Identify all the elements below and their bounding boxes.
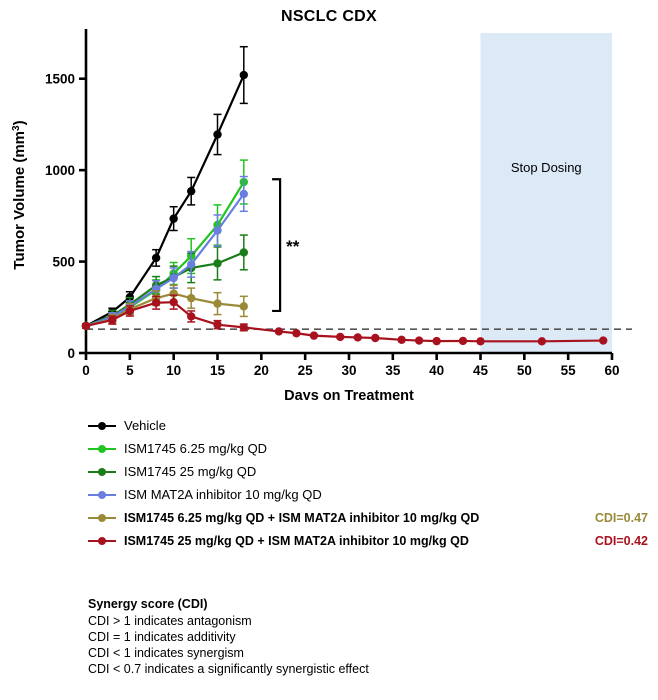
legend-item[interactable]: ISM MAT2A inhibitor 10 mg/kg QD: [88, 483, 648, 506]
data-point: [187, 294, 195, 302]
data-point: [213, 226, 221, 234]
legend-item[interactable]: ISM1745 25 mg/kg QD + ISM MAT2A inhibito…: [88, 529, 648, 552]
data-point: [432, 337, 440, 345]
x-axis-tick-label: 10: [166, 363, 181, 378]
legend-marker-icon: [88, 488, 116, 502]
x-axis-tick-label: 5: [126, 363, 134, 378]
stop-dosing-label: Stop Dosing: [511, 160, 582, 175]
x-axis-tick-label: 60: [604, 363, 619, 378]
figure-panel: NSCLC CDX Stop Dosing0500100015000510152…: [0, 0, 658, 700]
legend-marker-icon: [88, 465, 116, 479]
data-point: [213, 259, 221, 267]
data-point: [213, 320, 221, 328]
data-point: [354, 333, 362, 341]
data-point: [292, 329, 300, 337]
data-point: [213, 130, 221, 138]
y-axis-tick-label: 0: [67, 346, 75, 361]
synergy-score-footnote: Synergy score (CDI) CDI > 1 indicates an…: [88, 596, 369, 677]
x-axis-tick-label: 40: [429, 363, 444, 378]
series-line: [86, 75, 244, 326]
data-point: [336, 333, 344, 341]
footnote-title: Synergy score (CDI): [88, 596, 369, 612]
legend-cdi-value: CDI=0.42: [585, 534, 648, 548]
stop-dosing-band: [481, 33, 613, 353]
legend-item[interactable]: ISM1745 6.25 mg/kg QD + ISM MAT2A inhibi…: [88, 506, 648, 529]
series-3: [82, 177, 248, 331]
data-point: [459, 337, 467, 345]
legend-item-label: ISM1745 25 mg/kg QD + ISM MAT2A inhibito…: [124, 534, 469, 548]
y-axis-tick-label: 1000: [45, 163, 75, 178]
y-axis-title: Tumor Volume (mm3): [11, 120, 28, 269]
x-axis-tick-label: 20: [254, 363, 269, 378]
data-point: [169, 298, 177, 306]
significance-bracket: [272, 179, 280, 311]
data-point: [310, 331, 318, 339]
data-point: [476, 337, 484, 345]
data-point: [152, 299, 160, 307]
data-point: [275, 327, 283, 335]
data-point: [126, 307, 134, 315]
x-axis-tick-label: 30: [341, 363, 356, 378]
footnote-line: CDI > 1 indicates antagonism: [88, 613, 369, 629]
x-axis-tick-label: 25: [298, 363, 314, 378]
data-point: [538, 337, 546, 345]
legend-cdi-value: CDI=0.47: [585, 511, 648, 525]
y-axis-title-paren: ): [11, 120, 28, 125]
data-point: [415, 336, 423, 344]
data-point: [240, 190, 248, 198]
series-4: [82, 285, 248, 330]
data-point: [397, 336, 405, 344]
x-axis-tick-label: 15: [210, 363, 226, 378]
data-point: [240, 323, 248, 331]
data-point: [371, 334, 379, 342]
data-point: [82, 322, 90, 330]
legend-marker-icon: [88, 442, 116, 456]
legend-item[interactable]: ISM1745 25 mg/kg QD: [88, 460, 648, 483]
data-point: [240, 302, 248, 310]
x-axis-tick-label: 45: [473, 363, 489, 378]
legend-marker-icon: [88, 511, 116, 525]
data-point: [187, 312, 195, 320]
footnote-line: CDI < 1 indicates synergism: [88, 645, 369, 661]
legend-marker-icon: [88, 419, 116, 433]
data-point: [187, 260, 195, 268]
legend-marker-icon: [88, 534, 116, 548]
legend-item-label: ISM1745 25 mg/kg QD: [124, 465, 256, 479]
tumor-volume-line-chart: Stop Dosing05001000150005101520253035404…: [0, 0, 658, 400]
data-point: [213, 299, 221, 307]
data-point: [169, 274, 177, 282]
x-axis-tick-label: 50: [517, 363, 532, 378]
y-axis-tick-label: 500: [52, 255, 75, 270]
data-point: [240, 248, 248, 256]
data-point: [152, 254, 160, 262]
data-point: [169, 214, 177, 222]
data-point: [599, 336, 607, 344]
footnote-line: CDI < 0.7 indicates a significantly syne…: [88, 661, 369, 677]
x-axis-title: Days on Treatment: [284, 388, 414, 400]
y-axis-tick-label: 1500: [45, 72, 75, 87]
chart-legend: VehicleISM1745 6.25 mg/kg QDISM1745 25 m…: [88, 414, 648, 552]
data-point: [108, 316, 116, 324]
significance-asterisks: **: [286, 237, 300, 256]
y-axis-title-text: Tumor Volume (mm3): [11, 120, 28, 269]
legend-item[interactable]: Vehicle: [88, 414, 648, 437]
legend-item-label: ISM MAT2A inhibitor 10 mg/kg QD: [124, 488, 322, 502]
x-axis-tick-label: 55: [561, 363, 577, 378]
x-axis-tick-label: 0: [82, 363, 90, 378]
legend-item[interactable]: ISM1745 6.25 mg/kg QD: [88, 437, 648, 460]
legend-item-label: ISM1745 6.25 mg/kg QD + ISM MAT2A inhibi…: [124, 511, 479, 525]
footnote-line: CDI = 1 indicates additivity: [88, 629, 369, 645]
data-point: [240, 71, 248, 79]
x-axis-tick-label: 35: [385, 363, 401, 378]
data-point: [187, 187, 195, 195]
legend-item-label: ISM1745 6.25 mg/kg QD: [124, 442, 267, 456]
series-0: [82, 47, 248, 330]
legend-item-label: Vehicle: [124, 419, 166, 433]
